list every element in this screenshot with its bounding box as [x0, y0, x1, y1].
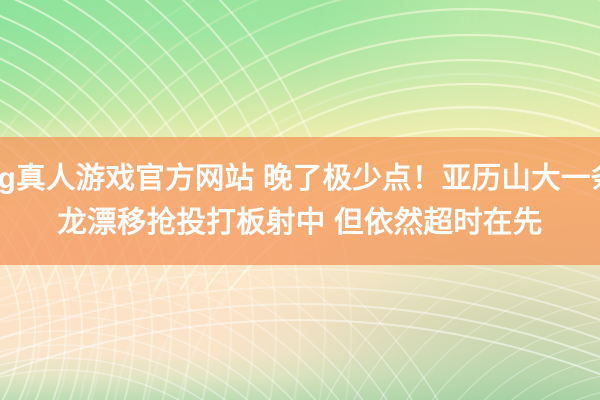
- headline-band: hg真人游戏官方网站 晚了极少点！亚历山大一条 龙漂移抢投打板射中 但依然超时在…: [0, 137, 600, 265]
- promo-banner: hg真人游戏官方网站 晚了极少点！亚历山大一条 龙漂移抢投打板射中 但依然超时在…: [0, 0, 600, 400]
- headline-line-1: hg真人游戏官方网站 晚了极少点！亚历山大一条: [0, 157, 600, 201]
- headline-line-2: 龙漂移抢投打板射中 但依然超时在先: [57, 201, 542, 245]
